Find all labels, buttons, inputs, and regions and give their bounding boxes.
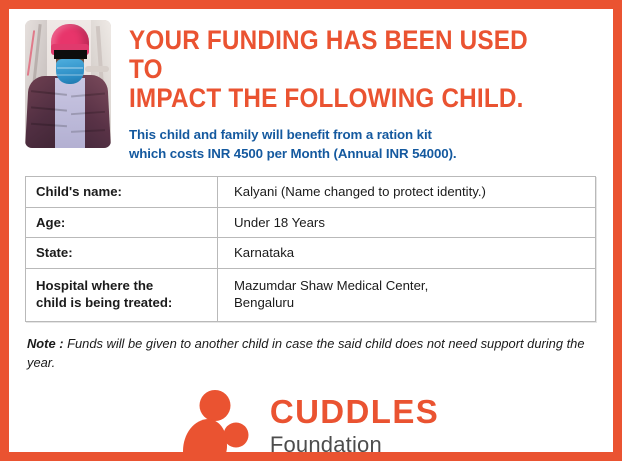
- logo-name: CUDDLES: [270, 395, 439, 428]
- note-prefix: Note :: [27, 336, 64, 351]
- privacy-bar-icon: [54, 50, 87, 59]
- header-text-block: YOUR FUNDING HAS BEEN USED TO IMPACT THE…: [129, 20, 596, 164]
- table-row: Hospital where the child is being treate…: [26, 269, 595, 322]
- table-row-label: Child's name:: [26, 177, 218, 207]
- table-row: State: Karnataka: [26, 238, 595, 269]
- mask-fold: [57, 67, 83, 69]
- table-row-label: State:: [26, 238, 218, 268]
- disclaimer-note: Note : Funds will be given to another ch…: [27, 335, 594, 372]
- table-row-value: Karnataka: [218, 238, 595, 268]
- table-row-value: Mazumdar Shaw Medical Center, Bengaluru: [218, 269, 595, 321]
- mask-fold: [57, 74, 83, 76]
- logo-wordmark: CUDDLES Foundation: [270, 395, 439, 456]
- funding-impact-card: YOUR FUNDING HAS BEEN USED TO IMPACT THE…: [0, 0, 622, 461]
- table-row: Child's name: Kalyani (Name changed to p…: [26, 177, 595, 208]
- table-row-label: Hospital where the child is being treate…: [26, 269, 218, 321]
- card-inner: YOUR FUNDING HAS BEEN USED TO IMPACT THE…: [9, 9, 613, 452]
- surgical-mask-icon: [56, 59, 84, 84]
- page-subtitle: This child and family will benefit from …: [129, 126, 596, 164]
- note-text: Funds will be given to another child in …: [27, 336, 585, 370]
- child-details-table: Child's name: Kalyani (Name changed to p…: [25, 176, 596, 322]
- cuddles-foundation-logo: CUDDLES Foundation: [25, 388, 596, 461]
- hospital-bed-rail-horizontal: [85, 66, 109, 72]
- page-title: YOUR FUNDING HAS BEEN USED TO IMPACT THE…: [129, 26, 549, 113]
- table-row: Age: Under 18 Years: [26, 208, 595, 239]
- table-row-value: Under 18 Years: [218, 208, 595, 238]
- cuddles-parent-and-child-mark-icon: [182, 388, 256, 461]
- card-header: YOUR FUNDING HAS BEEN USED TO IMPACT THE…: [25, 20, 596, 164]
- child-photo: [25, 20, 111, 148]
- table-row-label: Age:: [26, 208, 218, 238]
- logo-tagline: Foundation: [270, 434, 439, 456]
- table-row-value: Kalyani (Name changed to protect identit…: [218, 177, 595, 207]
